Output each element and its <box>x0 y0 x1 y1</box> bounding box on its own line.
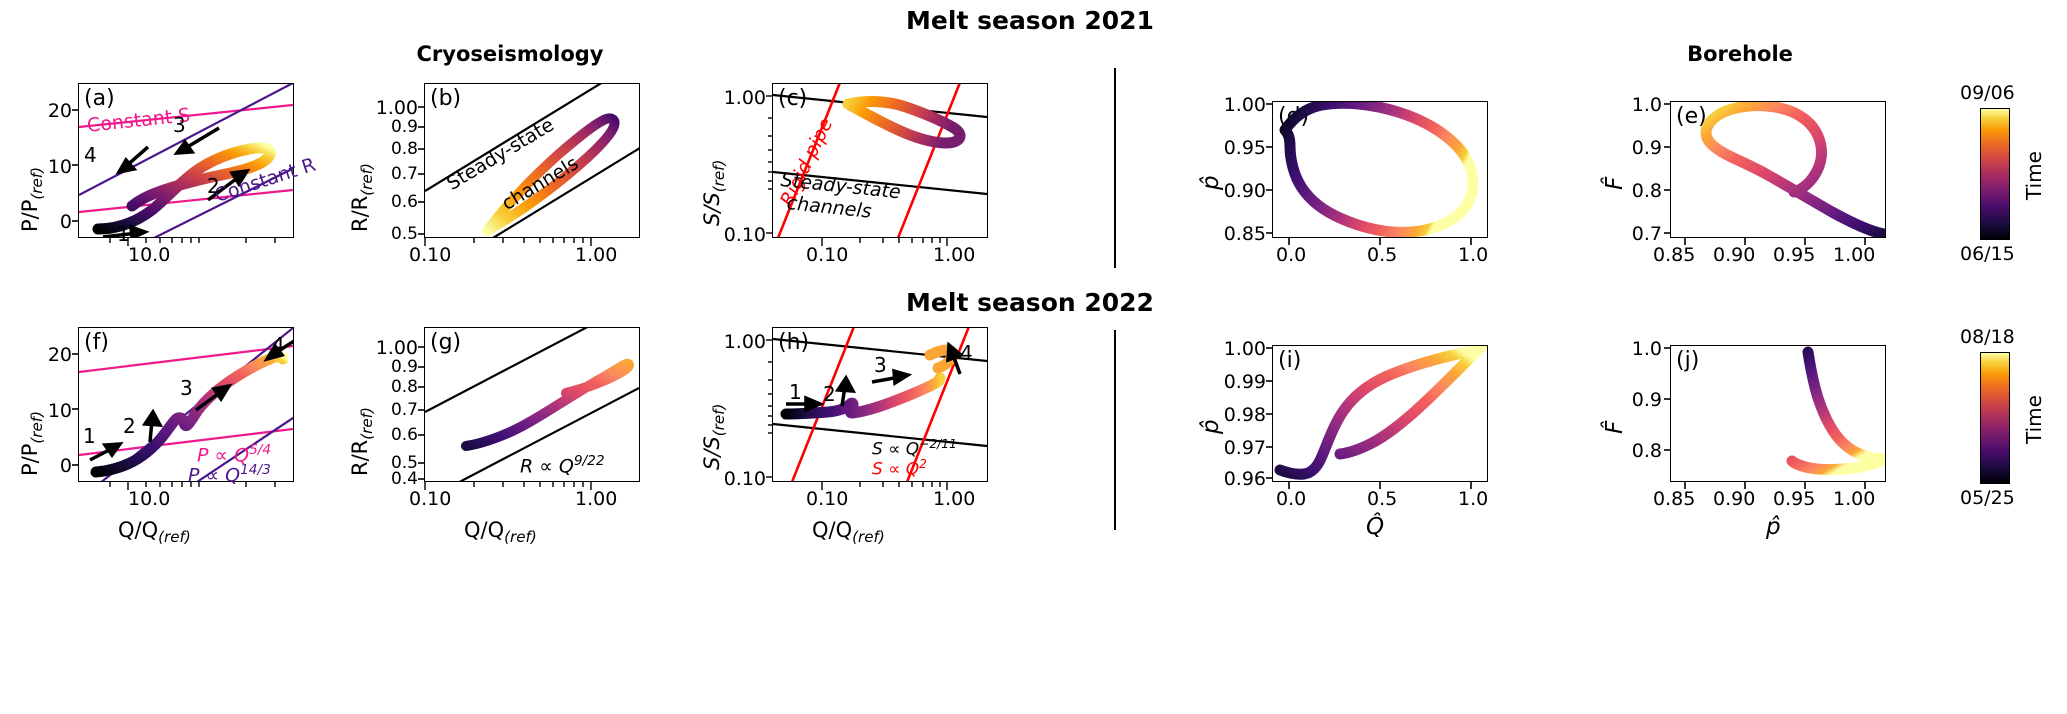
colorbar-2022-axis-label: Time <box>2022 395 2046 444</box>
colorbar-2022 <box>1980 352 2010 484</box>
colorbar-2022-bottom-label: 05/25 <box>1960 487 2015 509</box>
panel-j-trajectory <box>1792 352 1886 470</box>
figure-root: Melt season 2021 Cryoseismology Borehole… <box>0 0 2067 714</box>
panel-j-canvas <box>0 0 2067 714</box>
colorbar-2022-top-label: 08/18 <box>1960 326 2015 348</box>
